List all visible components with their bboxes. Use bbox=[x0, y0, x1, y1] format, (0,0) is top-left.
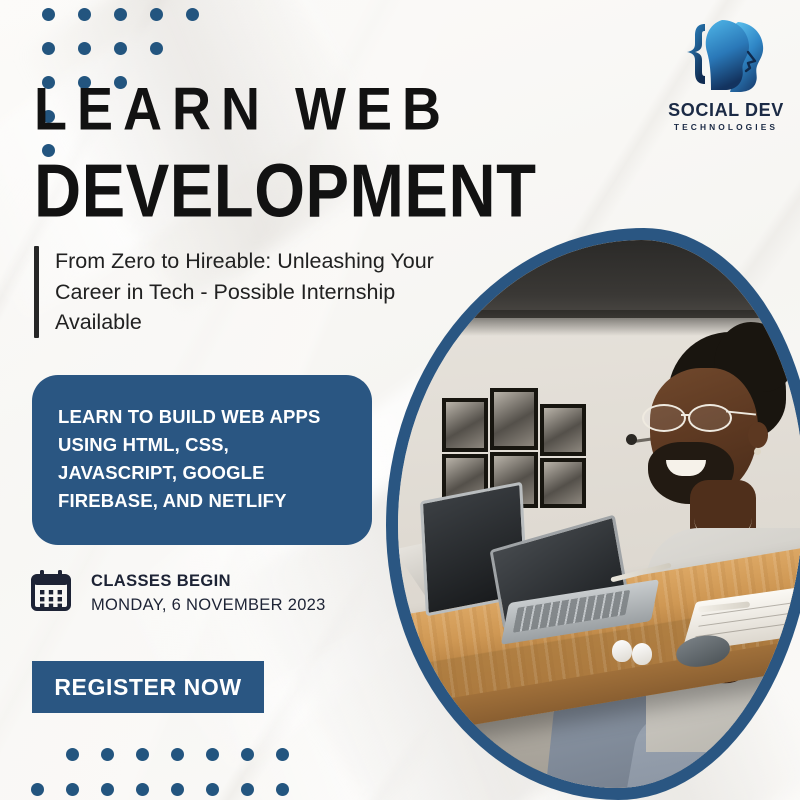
subtitle-block: From Zero to Hireable: Unleashing Your C… bbox=[34, 246, 444, 338]
face-profile-code-braces-logo-icon bbox=[664, 81, 788, 98]
poster-canvas: LEARN WEB DEVELOPMENT From Zero to Hirea… bbox=[0, 0, 800, 800]
subtitle-accent-bar bbox=[34, 246, 39, 338]
register-now-button[interactable]: REGISTER NOW bbox=[32, 661, 264, 713]
classes-begin-label: CLASSES BEGIN bbox=[91, 572, 326, 591]
subtitle-text: From Zero to Hireable: Unleashing Your C… bbox=[55, 246, 444, 338]
page-title: LEARN WEB DEVELOPMENT bbox=[34, 78, 634, 217]
earbuds bbox=[612, 640, 654, 664]
photo-blob-frame bbox=[386, 228, 800, 800]
headline-line-2: DEVELOPMENT bbox=[34, 153, 646, 229]
course-description-card: LEARN TO BUILD WEB APPS USING HTML, CSS,… bbox=[32, 375, 372, 545]
person-at-laptop-photo bbox=[398, 240, 800, 788]
eyeglasses-icon bbox=[642, 404, 748, 430]
brand-logo[interactable]: SOCIAL DEV TECHNOLOGIES bbox=[664, 18, 788, 131]
logo-brand-name: SOCIAL DEV bbox=[664, 101, 788, 119]
classes-begin-block: CLASSES BEGIN MONDAY, 6 NOVEMBER 2023 bbox=[27, 567, 326, 620]
logo-tagline: TECHNOLOGIES bbox=[664, 123, 788, 131]
classes-begin-date: MONDAY, 6 NOVEMBER 2023 bbox=[91, 596, 326, 615]
headline-line-1: LEARN WEB bbox=[34, 78, 634, 141]
calendar-icon bbox=[27, 567, 75, 620]
